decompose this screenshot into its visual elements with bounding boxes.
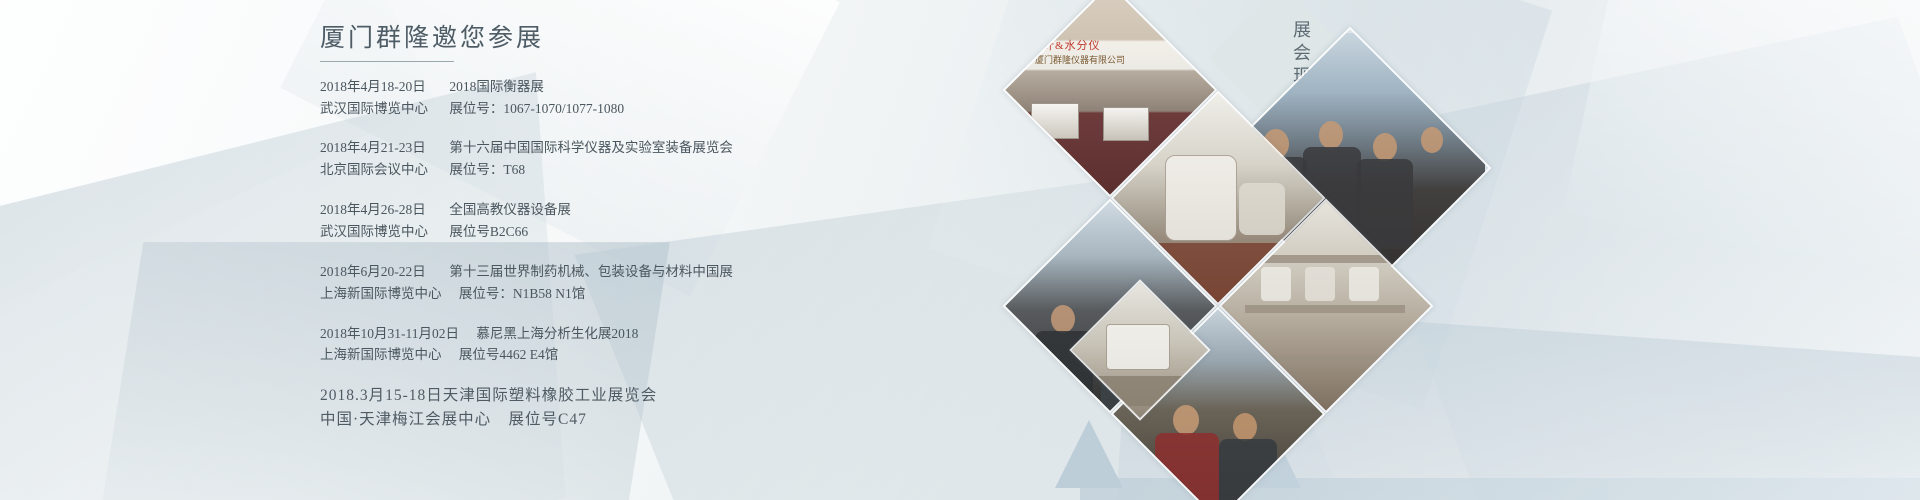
list-item: 2018年4月18-20日 2018国际衡器展 武汉国际博览中心 展位号：106…	[320, 76, 940, 120]
exhibition-date: 2018年4月21-23日	[320, 137, 432, 159]
exhibition-venue: 武汉国际博览中心	[320, 98, 432, 120]
instrument-device	[1031, 103, 1079, 139]
exhibition-title: 慕尼黑上海分析生化展2018	[462, 323, 638, 345]
exhibition-date-title-row: 2018年6月20-22日 第十三届世界制药机械、包装设备与材料中国展	[320, 261, 940, 283]
exhibition-title: 全国高教仪器设备展	[435, 199, 571, 221]
exhibition-date-title-row: 2018年4月21-23日 第十六届中国国际科学仪器及实验室装备展览会	[320, 137, 940, 159]
exhibition-date: 2018年10月31-11月02日	[320, 323, 459, 345]
background-facet	[1563, 0, 1920, 299]
exhibition-invitation-banner: 厦门群隆邀您参展 2018年4月18-20日 2018国际衡器展 武汉国际博览中…	[0, 0, 1920, 500]
exhibition-date-title-row: 2018年4月18-20日 2018国际衡器展	[320, 76, 940, 98]
exhibition-date: 2018年6月20-22日	[320, 261, 432, 283]
exhibition-venue-booth-row: 上海新国际博览中心 展位号4462 E4馆	[320, 344, 940, 366]
list-item: 2018年4月26-28日 全国高教仪器设备展 武汉国际博览中心 展位号B2C6…	[320, 199, 940, 243]
exhibition-list-panel: 厦门群隆邀您参展 2018年4月18-20日 2018国际衡器展 武汉国际博览中…	[320, 22, 940, 449]
list-item: 2018年6月20-22日 第十三届世界制药机械、包装设备与材料中国展 上海新国…	[320, 261, 940, 305]
exhibition-venue: 上海新国际博览中心	[320, 344, 442, 366]
page-title: 厦门群隆邀您参展	[320, 22, 940, 56]
exhibition-date-title-row: 2018.3月15-18日天津国际塑料橡胶工业展览会	[320, 384, 940, 408]
booth-banner-company: 厦门群隆仪器有限公司	[1035, 53, 1125, 66]
photo-collage: 密度计&水分仪 厦门群隆仪器有限公司	[1030, 0, 1450, 500]
exhibition-date-title-row: 2018年10月31-11月02日 慕尼黑上海分析生化展2018	[320, 323, 940, 345]
exhibition-venue-booth-row: 上海新国际博览中心 展位号：N1B58 N1馆	[320, 283, 940, 305]
exhibition-booth: 展位号：N1B58 N1馆	[445, 283, 585, 305]
title-underline	[320, 61, 454, 62]
exhibition-date-title: 2018.3月15-18日天津国际塑料橡胶工业展览会	[320, 384, 657, 408]
exhibition-venue-booth-row: 中国·天津梅江会展中心 展位号C47	[320, 408, 940, 432]
list-item: 2018.3月15-18日天津国际塑料橡胶工业展览会 中国·天津梅江会展中心 展…	[320, 384, 940, 431]
instrument-device	[1103, 107, 1149, 141]
exhibition-title: 第十六届中国国际科学仪器及实验室装备展览会	[435, 137, 733, 159]
exhibition-venue-booth-row: 武汉国际博览中心 展位号：1067-1070/1077-1080	[320, 98, 940, 120]
list-item: 2018年4月21-23日 第十六届中国国际科学仪器及实验室装备展览会 北京国际…	[320, 137, 940, 181]
exhibition-booth: 展位号：T68	[435, 159, 525, 181]
exhibition-venue: 上海新国际博览中心	[320, 283, 442, 305]
booth-banner-headline: 密度计&水分仪	[1019, 37, 1101, 53]
exhibition-booth: 展位号4462 E4馆	[445, 344, 558, 366]
list-item: 2018年10月31-11月02日 慕尼黑上海分析生化展2018 上海新国际博览…	[320, 323, 940, 367]
exhibition-booth: 展位号C47	[509, 411, 587, 428]
exhibition-date: 2018年4月26-28日	[320, 199, 432, 221]
exhibition-booth: 展位号：1067-1070/1077-1080	[435, 98, 624, 120]
exhibition-venue-booth-row: 武汉国际博览中心 展位号B2C66	[320, 221, 940, 243]
exhibition-booth: 展位号B2C66	[435, 221, 528, 243]
exhibition-venue-booth-row: 北京国际会议中心 展位号：T68	[320, 159, 940, 181]
exhibition-date-title-row: 2018年4月26-28日 全国高教仪器设备展	[320, 199, 940, 221]
exhibition-date: 2018年4月18-20日	[320, 76, 432, 98]
exhibition-venue: 北京国际会议中心	[320, 159, 432, 181]
exhibition-title: 2018国际衡器展	[435, 76, 544, 98]
exhibition-venue: 武汉国际博览中心	[320, 221, 432, 243]
exhibition-venue: 中国·天津梅江会展中心	[320, 408, 505, 432]
exhibition-title: 第十三届世界制药机械、包装设备与材料中国展	[435, 261, 733, 283]
